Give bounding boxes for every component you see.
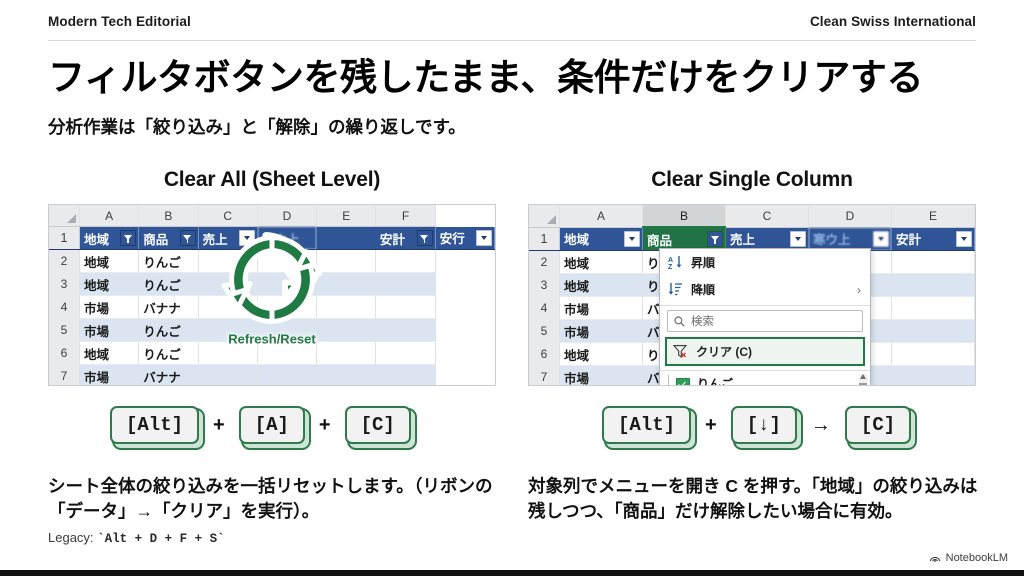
filter-header-row: 1 地域 商品 売上 寒ウ上 安計 (49, 227, 495, 250)
key-alt[interactable]: [Alt] (110, 406, 199, 444)
cell-c4[interactable] (198, 296, 257, 319)
cell-e4[interactable] (892, 297, 975, 320)
cell-a6[interactable]: 地域 (80, 342, 139, 365)
key-c[interactable]: [C] (345, 406, 411, 444)
panel-clear-all: Clear All (Sheet Level) A B C D E F 1 地域… (48, 168, 496, 386)
legacy-shortcut-note: Legacy: `Alt + D + F + S` (48, 530, 225, 546)
row-number-7: 7 (49, 365, 80, 387)
shortcut-keys-left: [Alt] + [A] + [C] (110, 406, 411, 444)
spreadsheet-left[interactable]: A B C D E F 1 地域 商品 売上 (48, 204, 496, 386)
filter-header-cell-d[interactable]: 寒ウ上 (809, 227, 892, 251)
column-letter-a[interactable]: A (560, 205, 643, 227)
header-divider (48, 40, 976, 41)
menu-item-clear-filter[interactable]: クリア (C) (665, 337, 865, 366)
cell-d5[interactable] (257, 319, 316, 342)
key-separator-plus: + (213, 414, 225, 437)
row-number-6: 6 (529, 343, 560, 366)
menu-item-sort-ascending[interactable]: A Z 昇順 (660, 249, 870, 276)
chevron-right-icon: › (857, 283, 861, 297)
spreadsheet-left-grid: A B C D E F 1 地域 商品 売上 (49, 205, 495, 386)
cell-c2[interactable] (198, 250, 257, 273)
column-letter-a[interactable]: A (80, 205, 139, 227)
cell-a6[interactable]: 地域 (560, 343, 643, 366)
checkbox-checked-icon[interactable] (676, 378, 690, 387)
row-number-7: 7 (529, 366, 560, 387)
search-input[interactable]: 検索 (667, 310, 863, 332)
filter-header-cell-a[interactable]: 地域 (560, 227, 643, 251)
cell-c7[interactable] (198, 365, 257, 387)
row-number-4: 4 (529, 297, 560, 320)
cell-f6[interactable] (376, 342, 435, 365)
filter-header-label: 地域 (84, 233, 109, 247)
column-letter-c[interactable]: C (726, 205, 809, 227)
row-number-1: 1 (529, 227, 560, 251)
svg-text:Z: Z (668, 264, 673, 270)
search-icon (674, 316, 685, 327)
cell-d2[interactable] (257, 250, 316, 273)
cell-d4[interactable] (257, 296, 316, 319)
column-letter-f[interactable]: F (376, 205, 435, 227)
cell-f4[interactable] (376, 296, 435, 319)
filter-header-cell-a[interactable]: 地域 (80, 227, 139, 250)
table-row: 2地域りんご (49, 250, 495, 273)
cell-a7[interactable]: 市場 (560, 366, 643, 387)
column-letter-row: A B C D E F (49, 205, 495, 227)
filter-header-cell-b[interactable]: 商品 (139, 227, 198, 250)
cell-f5[interactable] (376, 319, 435, 342)
cell-b7[interactable]: バナナ (139, 365, 198, 387)
page-title: フィルタボタンを残したまま、条件だけをクリアする (48, 56, 988, 100)
table-row: 7市場バナナ (49, 365, 495, 387)
column-letter-d[interactable]: D (257, 205, 316, 227)
filter-header-cell-e[interactable]: 安計 (892, 227, 975, 251)
filter-header-label: 商品 (143, 233, 168, 247)
cell-e5[interactable] (317, 319, 376, 342)
cell-e3[interactable] (892, 274, 975, 297)
row-number-4: 4 (49, 296, 80, 319)
cell-d6[interactable] (257, 342, 316, 365)
cell-b5[interactable]: りんご (139, 319, 198, 342)
legacy-code: `Alt + D + F + S` (97, 532, 225, 546)
filter-header-label: 安行 (440, 232, 465, 246)
row-number-1: 1 (49, 227, 80, 250)
table-row: 3地域りんご (49, 273, 495, 296)
filter-header-label: 売上 (730, 233, 755, 247)
column-letter-e[interactable]: E (892, 205, 975, 227)
filter-value-list[interactable]: りんご バナナ (660, 370, 870, 386)
cell-e5[interactable] (892, 320, 975, 343)
row-number-2: 2 (529, 251, 560, 274)
cell-b2[interactable]: りんご (139, 250, 198, 273)
filter-dropdown-icon[interactable] (624, 231, 640, 247)
cell-a2[interactable]: 地域 (80, 250, 139, 273)
key-c[interactable]: [C] (845, 406, 911, 444)
panel-right-heading: Clear Single Column (528, 168, 976, 192)
sort-ascending-icon: A Z (668, 255, 683, 270)
filter-header-cell-c[interactable]: 売上 (198, 227, 257, 250)
filter-funnel-icon[interactable] (417, 230, 433, 246)
notebooklm-logo-icon (929, 552, 941, 564)
column-letter-c[interactable]: C (198, 205, 257, 227)
filter-header-label: 寒ウ上 (813, 233, 851, 247)
row-number-6: 6 (49, 342, 80, 365)
footer-brand-label: NotebookLM (946, 552, 1008, 564)
filter-header-label: 地域 (564, 233, 589, 247)
row-number-2: 2 (49, 250, 80, 273)
cell-e4[interactable] (317, 296, 376, 319)
filter-dropdown-icon[interactable] (239, 230, 255, 246)
cell-d7[interactable] (257, 365, 316, 387)
column-letter-b[interactable]: B (643, 205, 726, 227)
filter-header-label: 商品 (647, 234, 672, 248)
column-letter-b[interactable]: B (139, 205, 198, 227)
header-right-label: Clean Swiss International (810, 14, 976, 29)
cell-e7[interactable] (892, 366, 975, 387)
cell-a4[interactable]: 市場 (560, 297, 643, 320)
filter-header-cell-d[interactable]: 寒ウ上 (257, 227, 316, 250)
filter-dropdown-menu[interactable]: A Z 昇順 降順 › (659, 248, 871, 386)
cell-c5[interactable] (198, 319, 257, 342)
caption-right: 対象列でメニューを開き C を押す。「地域」の絞り込みは残しつつ、「商品」だけ解… (528, 474, 994, 524)
cell-b4[interactable]: バナナ (139, 296, 198, 319)
footer-bar (0, 570, 1024, 576)
cell-b3[interactable]: りんご (139, 273, 198, 296)
footer-brand: NotebookLM (929, 552, 1008, 564)
page-subtitle: 分析作業は「絞り込み」と「解除」の繰り返しです。 (48, 114, 988, 139)
filter-option-label: りんご (697, 375, 733, 386)
filter-header-cell-b[interactable]: 商品 (643, 227, 726, 251)
cell-f3[interactable] (376, 273, 435, 296)
row-number-5: 5 (49, 319, 80, 342)
cell-e7[interactable] (317, 365, 376, 387)
column-letter-e[interactable]: E (317, 205, 376, 227)
cell-e6[interactable] (317, 342, 376, 365)
filter-header-label: 寒ウ上 (262, 233, 300, 247)
key-separator-arrow: → (811, 414, 831, 437)
key-separator-plus: + (705, 414, 717, 437)
svg-text:A: A (668, 257, 673, 264)
filter-dropdown-icon[interactable] (956, 231, 972, 247)
filter-header-cell-f[interactable]: 安行 (435, 227, 494, 250)
panel-clear-single-column: Clear Single Column A B C D E 1 地域 商品 (528, 168, 976, 386)
filter-funnel-icon[interactable] (707, 231, 723, 247)
cell-a4[interactable]: 市場 (80, 296, 139, 319)
cell-a5[interactable]: 市場 (80, 319, 139, 342)
select-all-corner[interactable] (529, 205, 560, 227)
column-letter-row: A B C D E (529, 205, 975, 227)
cell-b6[interactable]: りんご (139, 342, 198, 365)
scroll-up-arrow-icon[interactable] (860, 374, 866, 379)
row-number-3: 3 (529, 274, 560, 297)
menu-item-sort-descending[interactable]: 降順 › (660, 276, 870, 303)
spreadsheet-right[interactable]: A B C D E 1 地域 商品 売上 (528, 204, 976, 386)
cell-a2[interactable]: 地域 (560, 251, 643, 274)
cell-d3[interactable] (257, 273, 316, 296)
filter-dropdown-icon[interactable] (476, 230, 492, 246)
cell-a3[interactable]: 地域 (560, 274, 643, 297)
slide-header: Modern Tech Editorial Clean Swiss Intern… (48, 14, 976, 29)
cell-e2[interactable] (317, 250, 376, 273)
cell-f7[interactable] (376, 365, 435, 387)
filter-option[interactable]: りんご (676, 375, 864, 386)
sort-descending-icon (668, 282, 683, 297)
table-row: 6地域りんご (49, 342, 495, 365)
menu-item-label: クリア (C) (696, 343, 752, 360)
filter-funnel-icon[interactable] (180, 230, 196, 246)
cell-c3[interactable] (198, 273, 257, 296)
clear-filter-icon (673, 344, 688, 359)
cell-a3[interactable]: 地域 (80, 273, 139, 296)
filter-header-cell-e[interactable]: 安計 (376, 227, 435, 250)
column-letter-d[interactable]: D (809, 205, 892, 227)
cell-e2[interactable] (892, 251, 975, 274)
key-alt[interactable]: [Alt] (602, 406, 691, 444)
cell-f2[interactable] (376, 250, 435, 273)
table-row: 4市場バナナ (49, 296, 495, 319)
filter-header-row: 1 地域 商品 売上 寒ウ上 安計 (529, 227, 975, 251)
filter-funnel-icon[interactable] (120, 230, 136, 246)
key-separator-plus: + (319, 414, 331, 437)
legacy-prefix: Legacy: (48, 530, 97, 545)
key-arrow-down[interactable]: [↓] (731, 406, 797, 444)
shortcut-keys-right: [Alt] + [↓] → [C] (602, 406, 911, 444)
filter-header-label: 売上 (203, 233, 228, 247)
caption-left: シート全体の絞り込みを一括リセットします。（リボンの「データ」→「クリア」を実行… (48, 474, 504, 524)
filter-header-label: 安計 (380, 233, 405, 247)
filter-header-cell-c[interactable]: 売上 (726, 227, 809, 251)
filter-dropdown-icon[interactable] (873, 231, 889, 247)
key-a[interactable]: [A] (239, 406, 305, 444)
header-left-label: Modern Tech Editorial (48, 14, 191, 29)
menu-item-label: 昇順 (691, 254, 715, 271)
row-number-5: 5 (529, 320, 560, 343)
menu-item-label: 降順 (691, 281, 715, 298)
cell-e6[interactable] (892, 343, 975, 366)
menu-divider (660, 305, 870, 306)
filter-header-cell-d-btn-holder (317, 227, 376, 250)
panel-left-heading: Clear All (Sheet Level) (48, 168, 496, 192)
filter-dropdown-icon[interactable] (790, 231, 806, 247)
search-placeholder: 検索 (691, 313, 714, 329)
cell-a7[interactable]: 市場 (80, 365, 139, 387)
cell-a5[interactable]: 市場 (560, 320, 643, 343)
row-number-3: 3 (49, 273, 80, 296)
cell-c6[interactable] (198, 342, 257, 365)
cell-e3[interactable] (317, 273, 376, 296)
select-all-corner[interactable] (49, 205, 80, 227)
dropdown-scrollbar[interactable] (859, 374, 867, 386)
table-row: 5市場りんご (49, 319, 495, 342)
filter-header-label: 安計 (896, 233, 921, 247)
